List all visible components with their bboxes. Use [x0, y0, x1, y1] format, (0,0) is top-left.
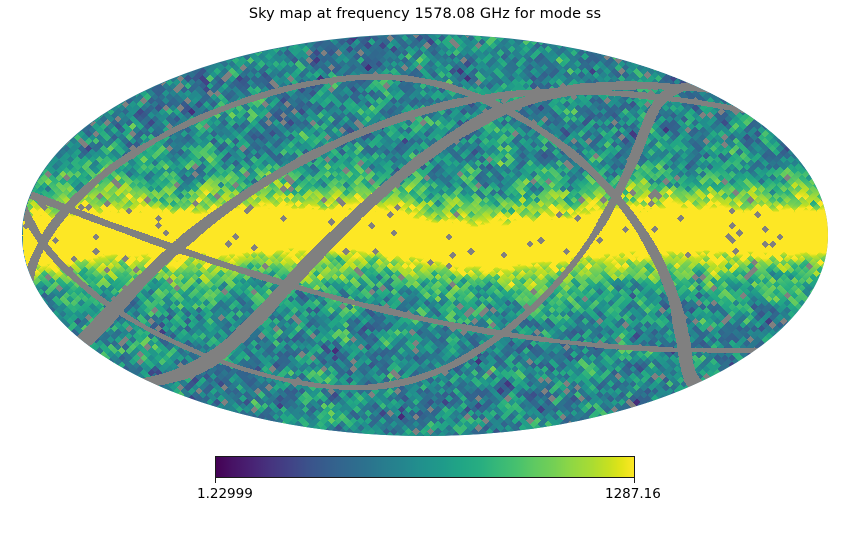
sky-map-figure-root: Sky map at frequency 1578.08 GHz for mod… — [0, 0, 850, 540]
colorbar-min-label: 1.22999 — [197, 486, 253, 502]
mollweide-ellipse-clip — [22, 34, 828, 436]
sky-map-panel — [22, 34, 828, 436]
colorbar-tick-min — [215, 478, 216, 483]
sky-map-heatmap — [22, 34, 828, 436]
colorbar-gradient — [215, 456, 635, 478]
colorbar-tick-max — [634, 478, 635, 483]
colorbar — [215, 456, 635, 478]
page-title: Sky map at frequency 1578.08 GHz for mod… — [0, 6, 850, 22]
colorbar-max-label: 1287.16 — [605, 486, 661, 502]
